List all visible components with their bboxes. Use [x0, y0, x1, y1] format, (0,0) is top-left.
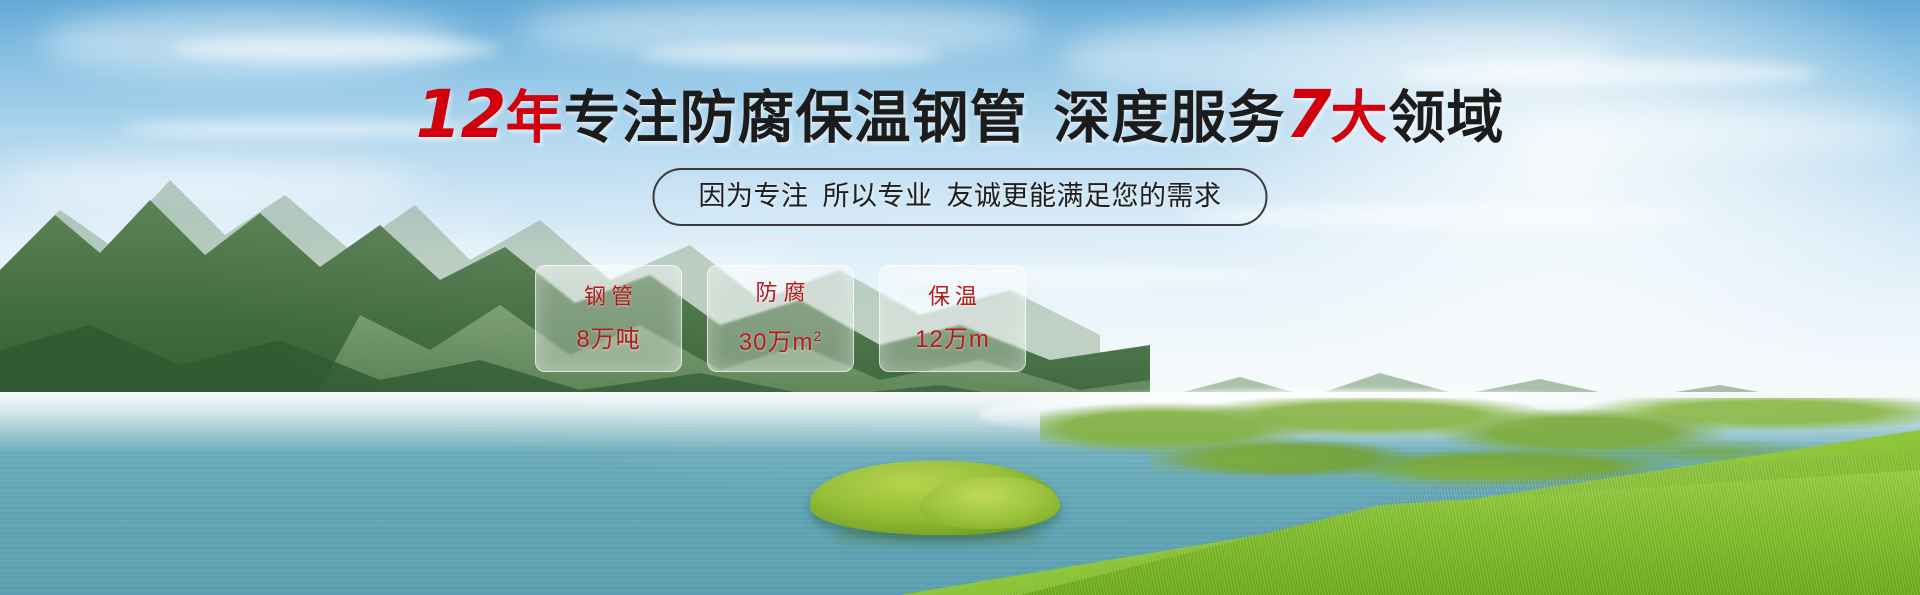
headline-main-part-1: 专注防腐保温钢管: [563, 86, 1027, 150]
subtitle-pill: 因为专注所以专业友诚更能满足您的需求: [653, 168, 1268, 226]
stat-card-steel-pipe[interactable]: 钢管 8万吨: [535, 265, 682, 372]
subtitle-part-2: 所以专业: [823, 181, 933, 211]
stat-card-value-text: 8万吨: [576, 326, 640, 353]
stat-card-anticorrosion[interactable]: 防腐 30万m2: [707, 265, 854, 372]
stat-card-category: 保温: [923, 284, 982, 310]
stat-card-insulation[interactable]: 保温 12万m: [879, 265, 1026, 372]
cloud-icon: [640, 44, 940, 64]
headline-years-number: 12: [416, 76, 506, 153]
stat-card-value-text: 30万m: [739, 329, 814, 356]
stat-card-value: 8万吨: [576, 326, 640, 354]
grass-island: [800, 455, 1070, 550]
headline: 12年专注防腐保温钢管深度服务7大领域: [0, 83, 1920, 150]
headline-years-unit: 年: [505, 86, 563, 150]
stat-card-value-superscript: 2: [813, 328, 822, 344]
stat-card-value: 30万m2: [739, 322, 822, 357]
island-mound-secondary: [920, 477, 1060, 529]
hero-banner: 12年专注防腐保温钢管深度服务7大领域 因为专注所以专业友诚更能满足您的需求 钢…: [0, 0, 1920, 595]
stat-cards: 钢管 8万吨 防腐 30万m2 保温 12万m: [535, 265, 1026, 372]
subtitle-part-1: 因为专注: [699, 181, 809, 211]
stat-card-category: 钢管: [579, 284, 638, 310]
subtitle-part-3: 友诚更能满足您的需求: [947, 181, 1222, 211]
cloud-icon: [170, 36, 500, 62]
stat-card-value-text: 12万m: [915, 326, 990, 353]
headline-fields-unit: 大: [1330, 86, 1388, 150]
headline-main-part-2: 深度服务: [1053, 86, 1285, 150]
headline-main-part-3: 领域: [1388, 86, 1504, 150]
stat-card-value: 12万m: [915, 326, 990, 354]
stat-card-category: 防腐: [749, 280, 811, 306]
headline-fields-number: 7: [1285, 76, 1330, 153]
